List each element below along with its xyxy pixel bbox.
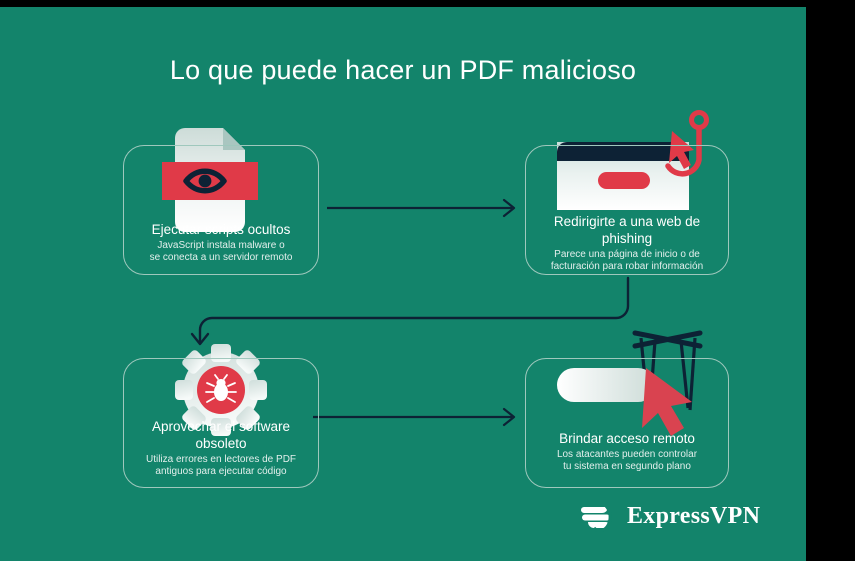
card-subtext: JavaScript instala malware o se conecta … [129,240,313,264]
expressvpn-logo-icon [580,500,616,532]
card-text-brindar-acceso-remoto: Brindar acceso remoto Los atacantes pued… [525,430,729,473]
card-heading-line2: obsoleto [129,435,313,452]
card-subtext-line1: JavaScript instala malware o [129,240,313,252]
card-subtext: Los atacantes pueden controlar tu sistem… [531,449,723,473]
card-text-redirigirte-web-phishing: Redirigirte a una web de phishing Parece… [525,213,729,273]
card-subtext: Parece una página de inicio o de factura… [531,249,723,273]
card-heading-line1: Redirigirte a una web de [531,213,723,230]
card-subtext-line1: Utiliza errores en lectores de PDF [129,454,313,466]
arrow-card2-to-card3 [192,278,628,344]
card-text-aprovechar-software-obsoleto: Aprovechar el software obsoleto Utiliza … [123,418,319,478]
card-subtext-line1: Los atacantes pueden controlar [531,449,723,461]
card-heading-line1: Aprovechar el software [129,418,313,435]
card-subtext-line1: Parece una página de inicio o de [531,249,723,261]
card-subtext-line2: tu sistema en segundo plano [531,461,723,473]
card-heading: Aprovechar el software obsoleto [129,418,313,452]
infographic-root: Lo que puede hacer un PDF malicioso Ejec… [0,0,855,561]
arrow-card1-to-card2 [327,200,514,216]
card-text-ejecutar-scripts-ocultos: Ejecutar scripts ocultos JavaScript inst… [123,221,319,264]
card-heading-line2: phishing [531,230,723,247]
expressvpn-logo[interactable]: ExpressVPN [580,500,760,532]
card-heading: Redirigirte a una web de phishing [531,213,723,247]
card-subtext-line2: facturación para robar información [531,261,723,273]
card-heading: Ejecutar scripts ocultos [129,221,313,238]
arrow-card3-to-card4 [313,409,514,425]
card-heading: Brindar acceso remoto [531,430,723,447]
page-title: Lo que puede hacer un PDF malicioso [0,55,806,86]
card-subtext-line2: antiguos para ejecutar código [129,466,313,478]
card-subtext-line2: se conecta a un servidor remoto [129,252,313,264]
expressvpn-wordmark: ExpressVPN [627,503,760,530]
card-subtext: Utiliza errores en lectores de PDF antig… [129,454,313,478]
